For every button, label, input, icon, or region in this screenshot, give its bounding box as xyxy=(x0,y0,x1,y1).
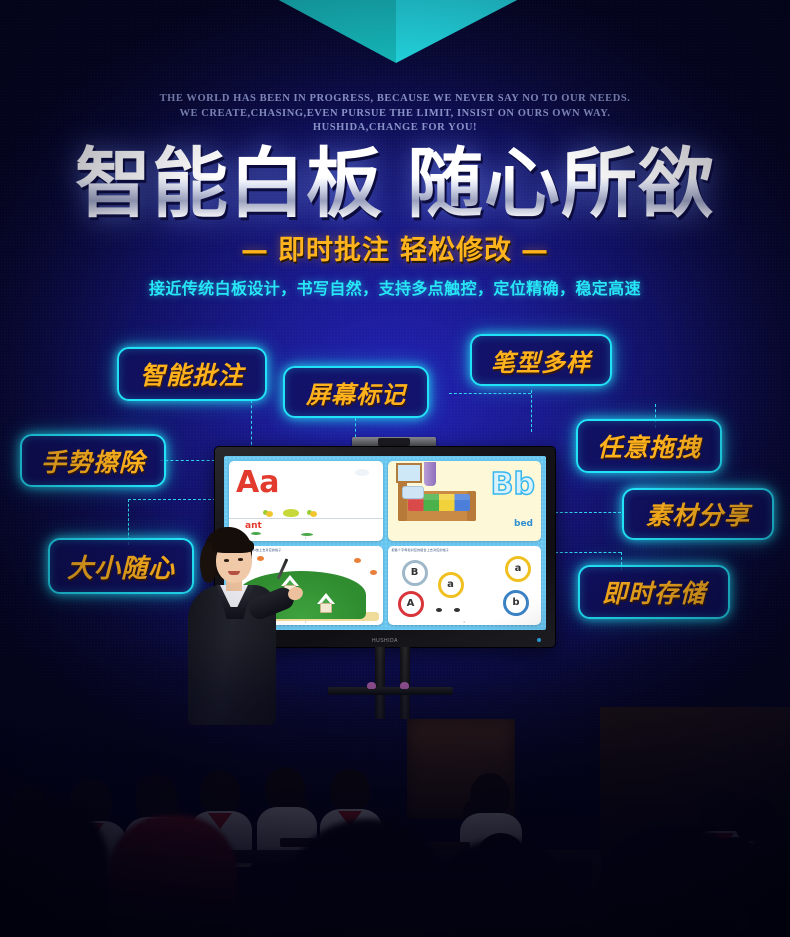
promo-poster: THE WORLD HAS BEEN IN PROGRESS, BECAUSE … xyxy=(0,0,790,937)
vignette-overlay xyxy=(0,0,790,937)
